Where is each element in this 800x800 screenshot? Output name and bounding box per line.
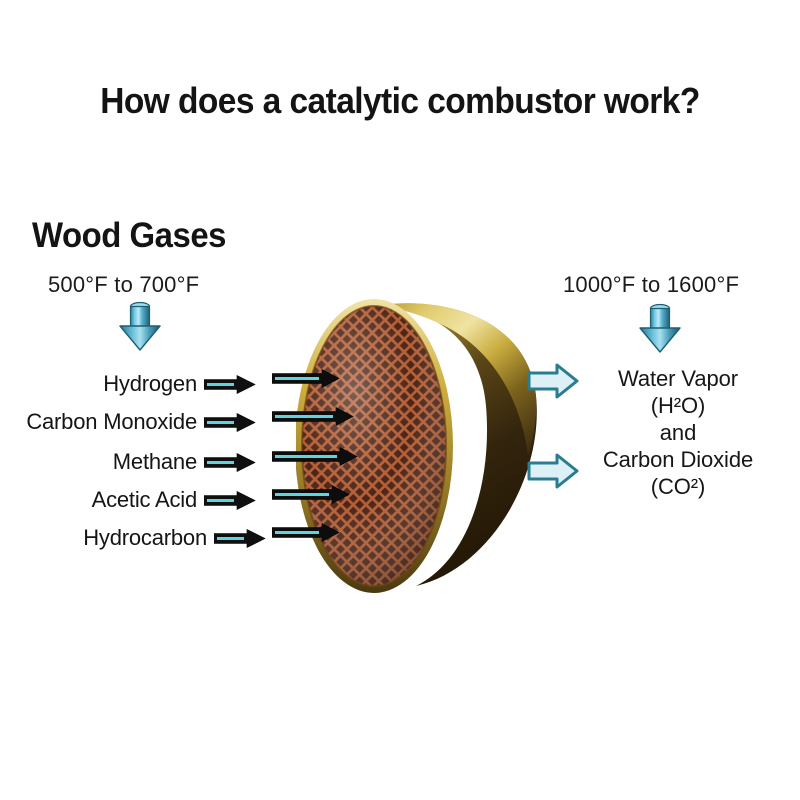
gas-flow-arrow-inner-icon (272, 407, 354, 426)
gas-flow-arrow-inner-icon (272, 447, 358, 466)
output-products-text: Water Vapor (H²O) and Carbon Dioxide (CO… (556, 365, 800, 500)
diagram-canvas: How does a catalytic combustor work? Woo… (0, 0, 800, 800)
product-line: (H²O) (556, 392, 800, 419)
gas-label: Methane (113, 451, 197, 473)
gas-row: Hydrogen (36, 369, 256, 399)
product-line: and (556, 419, 800, 446)
wood-gases-heading: Wood Gases (32, 216, 226, 256)
page-title: How does a catalytic combustor work? (28, 80, 772, 122)
catalytic-combustor (296, 296, 564, 596)
input-temperature-label: 500°F to 700°F (48, 272, 199, 298)
product-line: Water Vapor (556, 365, 800, 392)
gas-row: Hydrocarbon (30, 523, 266, 553)
gas-flow-arrow-icon (204, 375, 256, 394)
gas-label: Acetic Acid (92, 489, 197, 511)
product-line: Carbon Dioxide (556, 446, 800, 473)
gas-flow-arrow-inner-icon (272, 369, 340, 388)
gas-flow-arrow-icon (214, 529, 266, 548)
gas-flow-arrow-icon (204, 491, 256, 510)
product-line: (CO²) (556, 473, 800, 500)
gas-flow-arrow-inner-icon (272, 523, 340, 542)
gas-row: Acetic Acid (36, 485, 256, 515)
gas-row: Carbon Monoxide (20, 407, 256, 437)
output-temperature-label: 1000°F to 1600°F (563, 272, 739, 298)
gas-flow-arrow-icon (204, 453, 256, 472)
gas-row: Methane (50, 447, 256, 477)
gas-label: Carbon Monoxide (26, 411, 197, 433)
gas-label: Hydrocarbon (83, 527, 207, 549)
blue-down-arrow-icon (637, 302, 683, 354)
gas-flow-arrow-icon (204, 413, 256, 432)
gas-flow-arrow-inner-icon (272, 485, 350, 504)
gas-label: Hydrogen (103, 373, 197, 395)
blue-down-arrow-icon (117, 300, 163, 352)
